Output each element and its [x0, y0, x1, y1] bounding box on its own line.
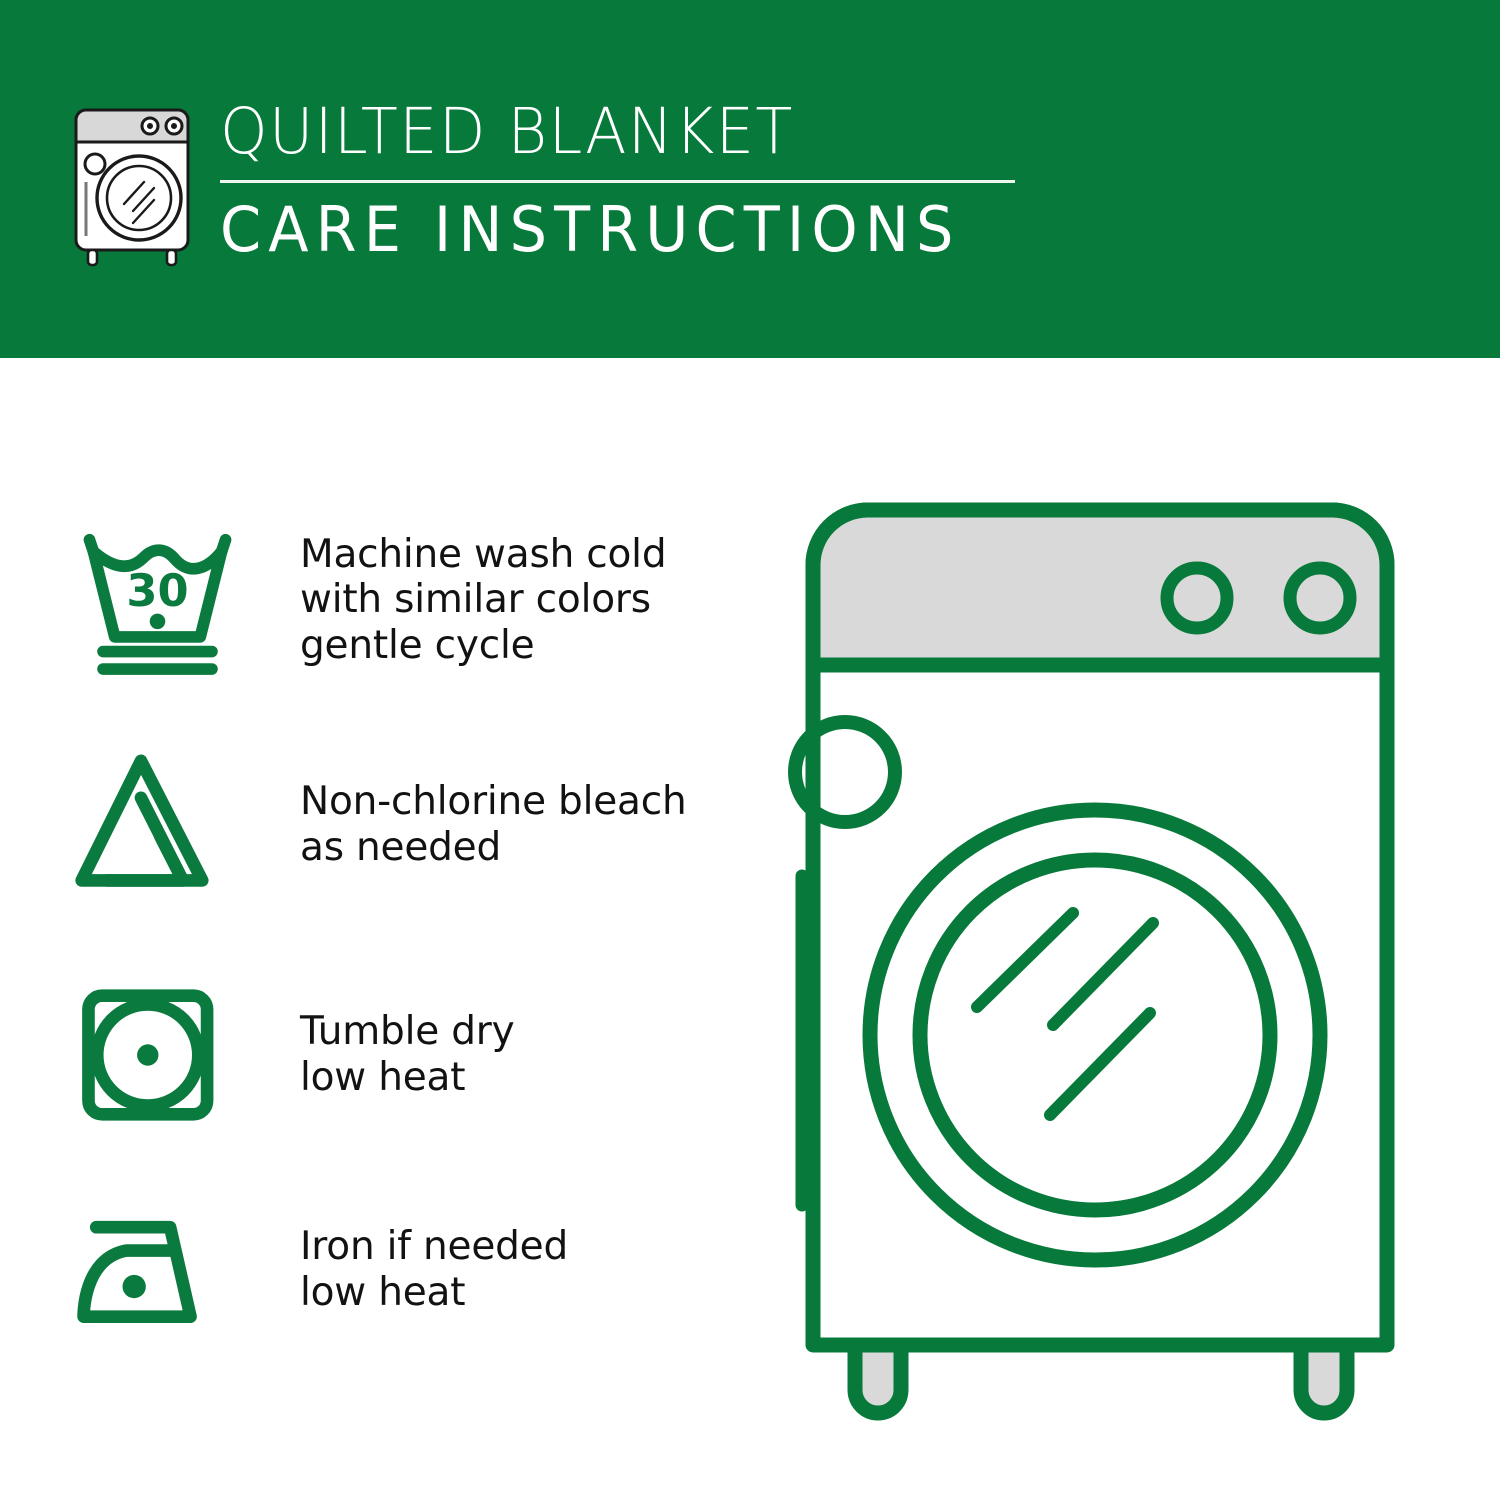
care-instruction-text: Non-chlorine bleach as needed	[300, 779, 687, 870]
title-divider	[220, 180, 1015, 183]
care-instruction-row: Tumble dry low heat	[70, 975, 514, 1135]
washing-machine-illustration	[745, 495, 1455, 1425]
care-instruction-row: 30 Machine wash cold with similar colors…	[70, 520, 666, 680]
washing-machine-icon	[62, 96, 202, 268]
care-instruction-text: Tumble dry low heat	[300, 1009, 514, 1100]
control-panel	[813, 510, 1387, 665]
iron-low-heat-icon	[70, 1190, 245, 1350]
care-instruction-text: Iron if needed low heat	[300, 1224, 568, 1315]
machine-leg-right	[1301, 1345, 1347, 1413]
care-instruction-row: Non-chlorine bleach as needed	[70, 745, 687, 905]
tumble-dry-low-heat-icon	[70, 975, 245, 1135]
non-chlorine-bleach-triangle-icon	[70, 745, 245, 905]
care-instruction-row: Iron if needed low heat	[70, 1190, 568, 1350]
page-subtitle: CARE INSTRUCTIONS	[220, 198, 980, 261]
header-band: QUILTED BLANKET CARE INSTRUCTIONS	[0, 0, 1500, 358]
header-title-group: QUILTED BLANKET CARE INSTRUCTIONS	[220, 96, 1020, 261]
wash-temperature-label: 30	[126, 564, 188, 617]
page-title: QUILTED BLANKET	[220, 100, 988, 164]
header-content: QUILTED BLANKET CARE INSTRUCTIONS	[62, 96, 1020, 268]
care-instruction-text: Machine wash cold with similar colors ge…	[300, 532, 666, 669]
machine-leg-left	[855, 1345, 901, 1413]
wash-tub-30-gentle-icon: 30	[70, 520, 245, 680]
